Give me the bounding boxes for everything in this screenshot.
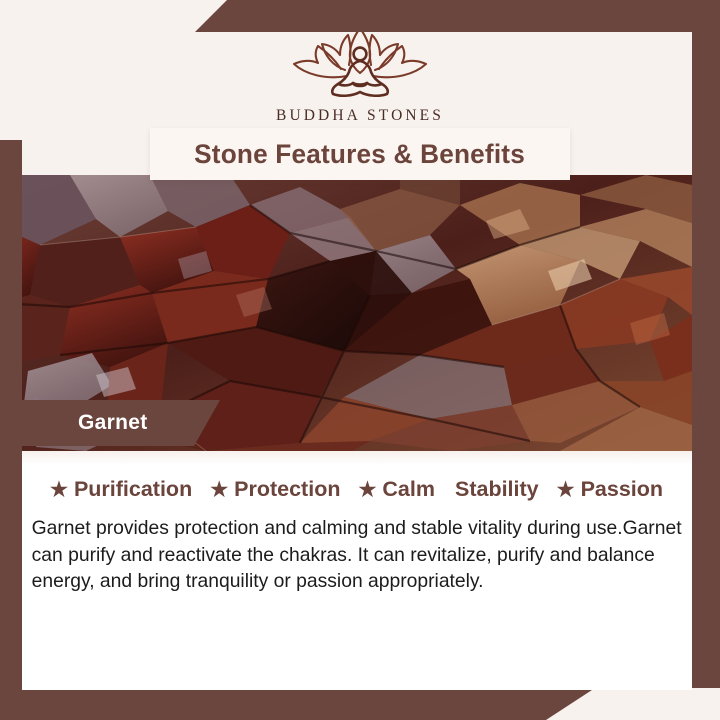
benefit-calm: ★ Calm — [358, 477, 435, 502]
benefit-label: Protection — [234, 477, 340, 502]
benefit-label: Passion — [581, 477, 663, 502]
benefit-label: Calm — [382, 477, 435, 502]
content-fade — [22, 451, 692, 465]
benefit-stability: Stability — [455, 477, 539, 502]
title-banner: Stone Features & Benefits — [150, 128, 570, 180]
stone-name: Garnet — [78, 411, 148, 435]
brand-logo: BUDDHA STONES — [0, 24, 720, 125]
brand-name: BUDDHA STONES — [276, 107, 444, 125]
star-icon: ★ — [358, 480, 376, 500]
stone-info-card: BUDDHA STONES Stone Features & Benefits — [0, 0, 720, 720]
benefits-list: ★ Purification ★ Protection ★ Calm Stabi… — [50, 477, 663, 502]
stone-description: Garnet provides protection and calming a… — [32, 515, 683, 595]
content-panel: ★ Purification ★ Protection ★ Calm Stabi… — [22, 451, 692, 690]
frame-top-bar — [195, 0, 720, 32]
star-icon: ★ — [50, 480, 68, 500]
benefit-protection: ★ Protection — [210, 477, 340, 502]
benefit-label: Stability — [455, 477, 539, 502]
frame-right-bar — [692, 0, 720, 688]
frame-left-bar — [0, 140, 22, 720]
benefit-passion: ★ Passion — [557, 477, 663, 502]
benefit-purification: ★ Purification — [50, 477, 192, 502]
frame-bottom-bar — [0, 690, 592, 720]
lotus-meditation-icon — [285, 24, 435, 98]
star-icon: ★ — [210, 480, 228, 500]
star-icon: ★ — [557, 480, 575, 500]
stone-name-banner: Garnet — [22, 400, 220, 446]
benefit-label: Purification — [74, 477, 192, 502]
page-title: Stone Features & Benefits — [195, 139, 526, 170]
